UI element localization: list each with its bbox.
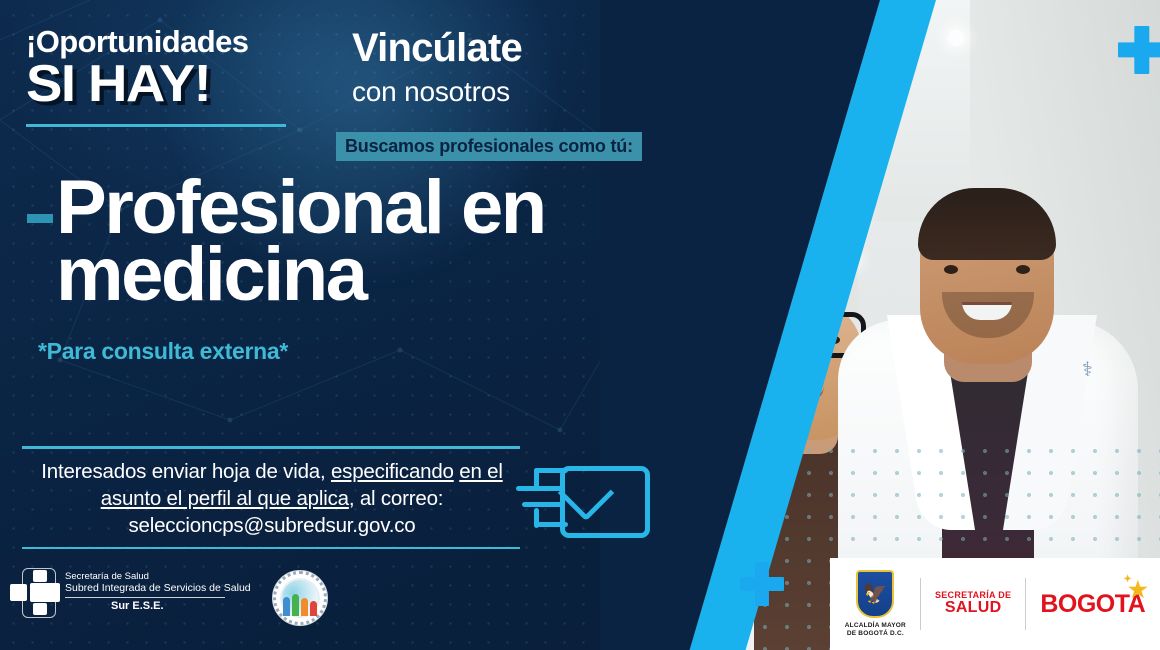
inclusion-seal-icon	[272, 570, 328, 626]
subred-line1: Secretaría de Salud	[65, 571, 251, 582]
subred-sur-logo: Secretaría de Salud Subred Integrada de …	[10, 570, 251, 614]
poster-content: ¡Oportunidades SI HAY! Vincúlate con nos…	[0, 0, 760, 650]
contact-instructions: Interesados enviar hoja de vida, especif…	[22, 449, 522, 541]
subred-mark-icon	[10, 570, 56, 614]
subred-line2: Subred Integrada de Servicios de Salud	[65, 582, 251, 594]
contact-email[interactable]: seleccioncps@subredsur.gov.co	[22, 512, 522, 539]
star-small-icon: ✦	[1123, 575, 1131, 585]
recruitment-poster: ⚕ 🦅 ALCALDÍA MAYOR DE BOGOTÁ D.C.	[0, 0, 1160, 650]
bogota-logo: BOGOTA ★ ✦	[1026, 592, 1159, 617]
join-title: Vincúlate	[352, 28, 522, 68]
kicker-strong-text: SI HAY!	[26, 58, 210, 110]
envelope-icon	[516, 456, 646, 552]
kicker-underline	[26, 124, 286, 127]
alcaldia-line2: DE BOGOTÁ D.C.	[845, 630, 906, 638]
contact-line1-underlined: especificando	[331, 460, 454, 483]
contact-rule-bottom	[22, 547, 520, 550]
kicker-text: ¡Oportunidades	[26, 26, 248, 57]
coat-embroidery	[1050, 386, 1128, 422]
contact-line1-plain: Interesados enviar hoja de vida,	[41, 460, 331, 483]
institutional-logo-bar: 🦅 ALCALDÍA MAYOR DE BOGOTÁ D.C. SECRETAR…	[830, 558, 1160, 650]
seeking-banner: Buscamos profesionales como tú:	[336, 132, 642, 161]
alcaldia-line1: ALCALDÍA MAYOR	[845, 622, 906, 630]
headline-dash-accent	[27, 214, 53, 223]
secretaria-salud-logo: SECRETARÍA DE SALUD	[921, 591, 1025, 617]
secretaria-line2: SALUD	[935, 600, 1011, 617]
job-note: *Para consulta externa*	[38, 338, 288, 365]
alcaldia-logo: 🦅 ALCALDÍA MAYOR DE BOGOTÁ D.C.	[831, 570, 920, 638]
contact-line2-plain: , al correo:	[349, 487, 443, 510]
contact-block: Interesados enviar hoja de vida, especif…	[22, 446, 522, 549]
subred-line3: Sur E.S.E.	[111, 600, 251, 613]
caduceus-icon: ⚕	[1082, 357, 1093, 382]
job-title: Profesional en medicina	[56, 175, 696, 309]
bogota-coat-of-arms-icon: 🦅	[856, 570, 894, 618]
job-title-line2: medicina	[56, 242, 696, 309]
bogota-wordmark: BOGOT	[1040, 590, 1127, 618]
plus-icon-top-right	[1118, 26, 1160, 74]
join-subtitle: con nosotros	[352, 78, 510, 106]
